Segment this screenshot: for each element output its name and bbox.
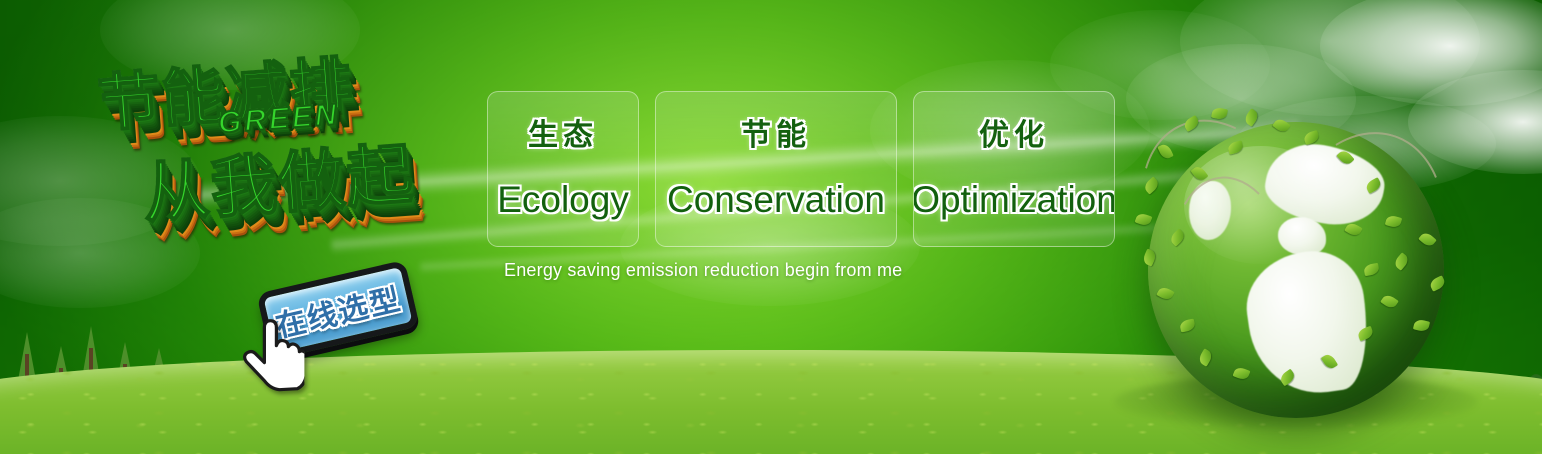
feature-card-title-en: Conservation <box>667 181 885 218</box>
leaf-icon <box>1211 107 1228 121</box>
leafy-globe-icon <box>1148 122 1444 418</box>
feature-card-ecology[interactable]: 生态 Ecology <box>487 91 639 247</box>
feature-card-title-en: Ecology <box>497 181 629 218</box>
hand-pointer-icon <box>242 318 304 392</box>
leaf-icon <box>1243 108 1261 127</box>
feature-card-title-cn: 优化 <box>979 121 1049 151</box>
cloud-icon <box>1320 0 1542 106</box>
leaf-icon <box>1135 212 1153 227</box>
continent-greenland <box>1189 181 1230 240</box>
leaf-icon <box>1182 115 1200 132</box>
continent-south-america <box>1239 245 1376 402</box>
continent-north-america <box>1261 136 1391 232</box>
headline-artwork: 节能减排 GREEN 从我做起 <box>89 24 482 269</box>
leaf-icon <box>1157 142 1173 160</box>
leaf-icon <box>1142 176 1161 194</box>
globe-sphere <box>1148 122 1444 418</box>
feature-card-list: 生态 Ecology 节能 Conservation 优化 Optimizati… <box>487 91 1115 247</box>
online-selection-button[interactable]: 在线选型 <box>256 260 419 360</box>
feature-card-optimization[interactable]: 优化 Optimization <box>913 91 1115 247</box>
feature-card-title-cn: 生态 <box>528 121 598 151</box>
cloud-icon <box>1180 0 1480 116</box>
eco-promo-banner: 节能减排 GREEN 从我做起 在线选型 生态 Ecology 节能 Conse… <box>0 0 1542 454</box>
continent-central-america <box>1278 217 1325 255</box>
headline-line-2: 从我做起 <box>139 121 417 237</box>
feature-card-title-en: Optimization <box>913 181 1115 218</box>
feature-card-title-cn: 节能 <box>741 121 811 151</box>
banner-tagline: Energy saving emission reduction begin f… <box>504 260 902 281</box>
feature-card-conservation[interactable]: 节能 Conservation <box>655 91 897 247</box>
